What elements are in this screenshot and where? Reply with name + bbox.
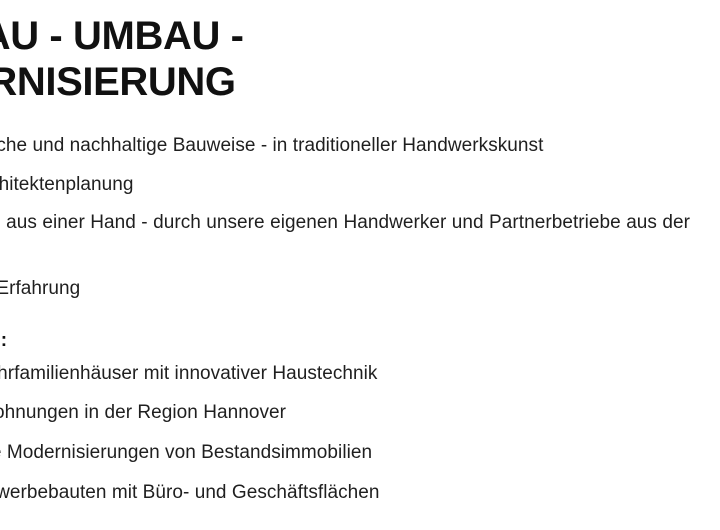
- list-item: Moderne Mehrfamilienhäuser mit innovativ…: [0, 361, 690, 388]
- list-item: Eigentumswohnungen in der Region Hannove…: [0, 400, 690, 427]
- list-item-label: Eigentumswohnungen in der Region Hannove…: [0, 402, 286, 423]
- intro-paragraph-1: Umweltfreundliche und nachhaltige Bauwei…: [0, 133, 690, 160]
- specialization-list: Moderne Mehrfamilienhäuser mit innovativ…: [0, 361, 690, 506]
- page-title: NEUBAU - UMBAU - MODERNISIERUNG: [0, 0, 690, 105]
- intro-section: Umweltfreundliche und nachhaltige Bauwei…: [0, 105, 690, 302]
- content-page: NEUBAU - UMBAU - MODERNISIERUNG Umweltfr…: [0, 0, 720, 530]
- specialization-heading: Wir realisieren:: [0, 302, 690, 361]
- list-item-label: Energetische Modernisierungen von Bestan…: [0, 442, 372, 463]
- intro-paragraph-2: Individuelle Architektenplanung: [0, 172, 690, 199]
- list-item-label: Moderne Gewerbebauten mit Büro- und Gesc…: [0, 482, 379, 503]
- list-item: Energetische Modernisierungen von Bestan…: [0, 440, 690, 467]
- list-item: Moderne Gewerbebauten mit Büro- und Gesc…: [0, 480, 690, 507]
- intro-paragraph-3: Alle Leistungen aus einer Hand - durch u…: [0, 210, 690, 263]
- intro-paragraph-4: Über 30 Jahre Erfahrung: [0, 276, 690, 303]
- list-item-label: Moderne Mehrfamilienhäuser mit innovativ…: [0, 363, 377, 384]
